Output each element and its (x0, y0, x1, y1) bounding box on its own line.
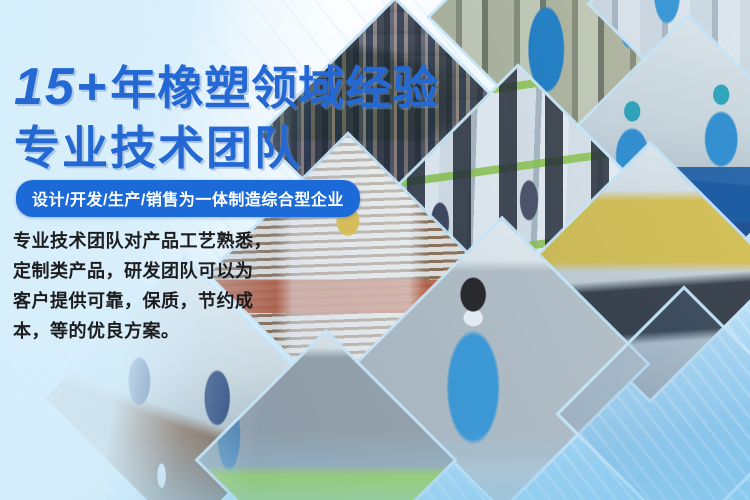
headline-line-1-rest: 年橡塑领域经验 (110, 62, 439, 114)
capability-pill-badge: 设计/开发/生产/销售为一体制造综合型企业 (16, 180, 360, 217)
paragraph-line: 本，等的优良方案。 (13, 316, 313, 346)
headline-years-number: 15+ (14, 58, 108, 116)
paragraph-line: 定制类产品，研发团队可以为 (13, 256, 313, 286)
description-paragraph: 专业技术团队对产品工艺熟悉， 定制类产品，研发团队可以为 客户提供可靠，保质，节… (13, 226, 313, 346)
headline-line-2: 专业技术团队 (14, 112, 302, 178)
company-strength-banner: 15+年橡塑领域经验 专业技术团队 设计/开发/生产/销售为一体制造综合型企业 … (0, 0, 750, 500)
headline-line-1: 15+年橡塑领域经验 (14, 52, 439, 118)
paragraph-line: 客户提供可靠，保质，节约成 (13, 286, 313, 316)
paragraph-line: 专业技术团队对产品工艺熟悉， (13, 226, 313, 256)
